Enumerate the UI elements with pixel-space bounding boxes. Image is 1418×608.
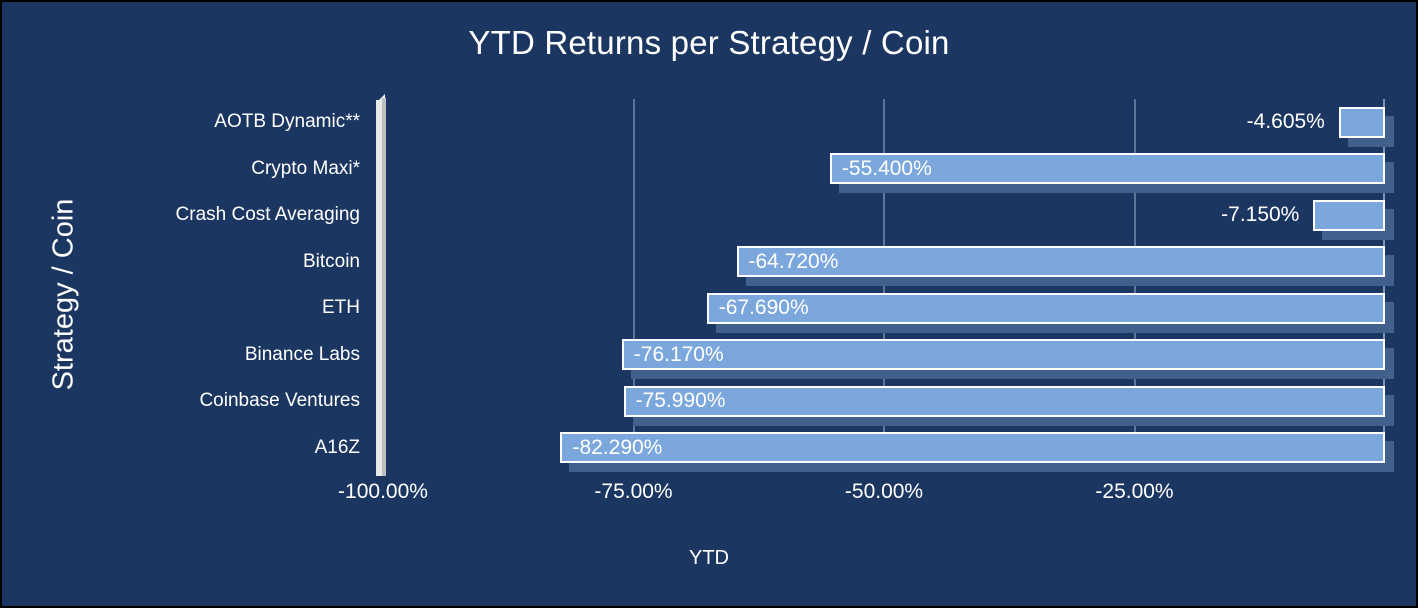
bar-value-label: -4.605% <box>1247 111 1325 133</box>
category-label: A16Z <box>92 437 360 459</box>
x-axis-tick-labels: -100.00%-75.00%-50.00%-25.00% <box>2 480 1418 514</box>
category-label: Crypto Maxi* <box>92 158 360 180</box>
bar[interactable] <box>1339 107 1385 138</box>
category-label: Coinbase Ventures <box>92 390 360 412</box>
category-label: Bitcoin <box>92 251 360 273</box>
bar-value-label: -82.290% <box>572 437 662 459</box>
bar-row: -76.170% <box>383 339 1385 379</box>
plot-area: -4.605%-55.400%-7.150%-64.720%-67.690%-7… <box>383 99 1385 471</box>
bar[interactable] <box>624 386 1385 417</box>
chart-title: YTD Returns per Strategy / Coin <box>2 24 1416 62</box>
category-label: ETH <box>92 297 360 319</box>
x-tick-label: -100.00% <box>338 480 428 504</box>
category-label: Binance Labs <box>92 344 360 366</box>
y-axis-title: Strategy / Coin <box>48 155 81 435</box>
bar-value-label: -64.720% <box>749 251 839 273</box>
x-tick-label: -75.00% <box>594 480 672 504</box>
category-label: Crash Cost Averaging <box>92 204 360 226</box>
x-axis-title: YTD <box>2 547 1416 570</box>
bar-row: -67.690% <box>383 293 1385 333</box>
bar-row: -7.150% <box>383 200 1385 240</box>
x-tick-label: -25.00% <box>1095 480 1173 504</box>
bar-value-label: -67.690% <box>719 297 809 319</box>
bar-row: -64.720% <box>383 246 1385 286</box>
category-axis-labels: AOTB Dynamic**Crypto Maxi*Crash Cost Ave… <box>92 99 360 471</box>
bar-row: -75.990% <box>383 386 1385 426</box>
bar-value-label: -55.400% <box>842 158 932 180</box>
axis-wall-face <box>376 100 382 476</box>
bar-value-label: -75.990% <box>636 390 726 412</box>
bar[interactable] <box>560 432 1385 463</box>
bar-value-label: -7.150% <box>1221 204 1299 226</box>
bar-row: -82.290% <box>383 432 1385 472</box>
chart-container: YTD Returns per Strategy / Coin Strategy… <box>0 0 1418 608</box>
bar-row: -4.605% <box>383 107 1385 147</box>
category-label: AOTB Dynamic** <box>92 111 360 133</box>
bar[interactable] <box>1313 200 1385 231</box>
x-tick-label: -50.00% <box>845 480 923 504</box>
bar-value-label: -76.170% <box>634 344 724 366</box>
bar[interactable] <box>622 339 1385 370</box>
bar-row: -55.400% <box>383 153 1385 193</box>
